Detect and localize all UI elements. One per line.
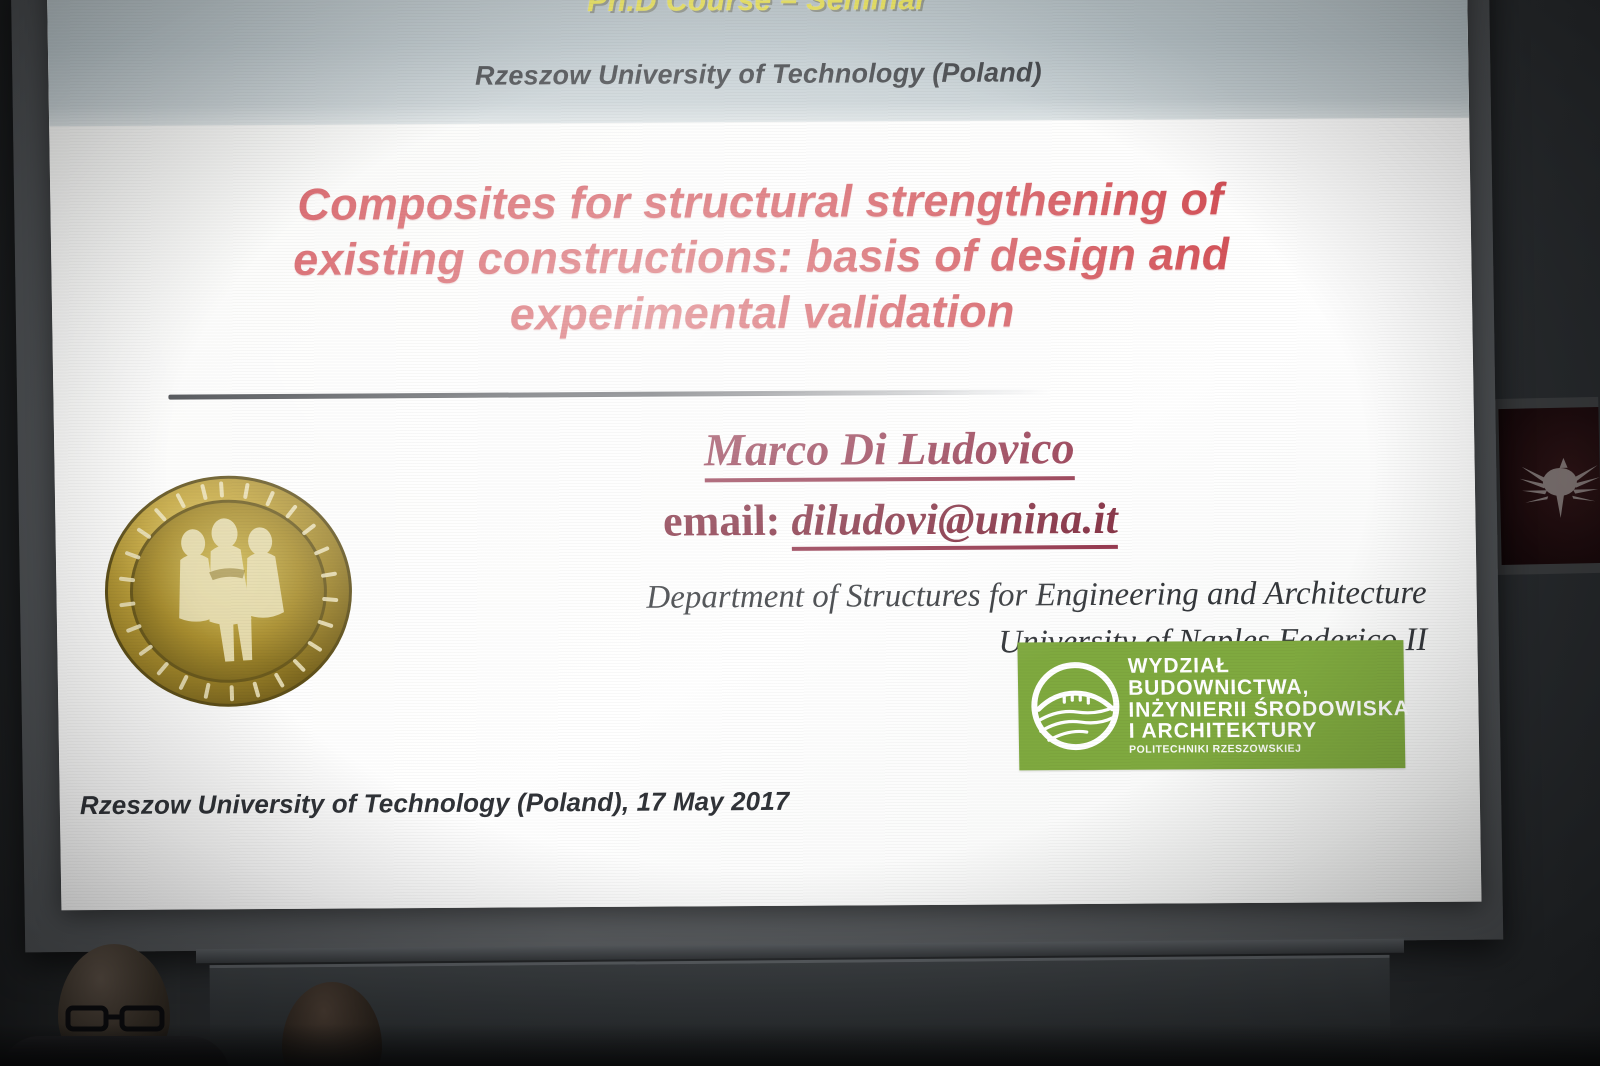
bridge-over-fields-circle-icon — [1028, 659, 1123, 754]
email-label: email: — [663, 495, 781, 545]
logo-line-4: I ARCHITEKTURY — [1129, 719, 1411, 743]
title-line-2: existing constructions: basis of design … — [111, 225, 1412, 288]
logo-line-1: WYDZIAŁ — [1128, 654, 1410, 678]
author-email-line: email: diludovi@unina.it — [355, 491, 1426, 547]
faculty-logo-text: WYDZIAŁ BUDOWNICTWA, INŻYNIERII ŚRODOWIS… — [1128, 654, 1411, 756]
slide-footer: Rzeszow University of Technology (Poland… — [80, 786, 790, 821]
faculty-logo: WYDZIAŁ BUDOWNICTWA, INŻYNIERII ŚRODOWIS… — [1017, 640, 1405, 770]
affiliation-department: Department of Structures for Engineering… — [356, 570, 1427, 623]
slide-title: Composites for structural strengthening … — [110, 170, 1413, 344]
author-block: Marco Di Ludovico email: diludovi@unina.… — [354, 420, 1426, 547]
logo-subline: POLITECHNIKI RZESZOWSKIEJ — [1129, 743, 1411, 756]
author-name: Marco Di Ludovico — [704, 422, 1075, 482]
lecture-room-scene: Ph.D Course – Seminar Rzeszow University… — [0, 0, 1600, 1066]
title-line-1: Composites for structural strengthening … — [110, 170, 1411, 233]
logo-line-3: INŻYNIERII ŚRODOWISKA — [1128, 698, 1410, 722]
title-line-3: experimental validation — [112, 281, 1413, 344]
logo-line-2: BUDOWNICTWA, — [1128, 676, 1410, 700]
slide-canvas: Ph.D Course – Seminar Rzeszow University… — [47, 0, 1482, 910]
eagle-emblem-icon — [1515, 447, 1600, 527]
horizontal-divider — [168, 389, 1048, 399]
projected-slide: Ph.D Course – Seminar Rzeszow University… — [47, 0, 1482, 910]
university-seal-image — [97, 468, 360, 714]
foreground-shadow — [0, 1024, 1600, 1066]
email-address[interactable]: diludovi@unina.it — [791, 493, 1118, 550]
